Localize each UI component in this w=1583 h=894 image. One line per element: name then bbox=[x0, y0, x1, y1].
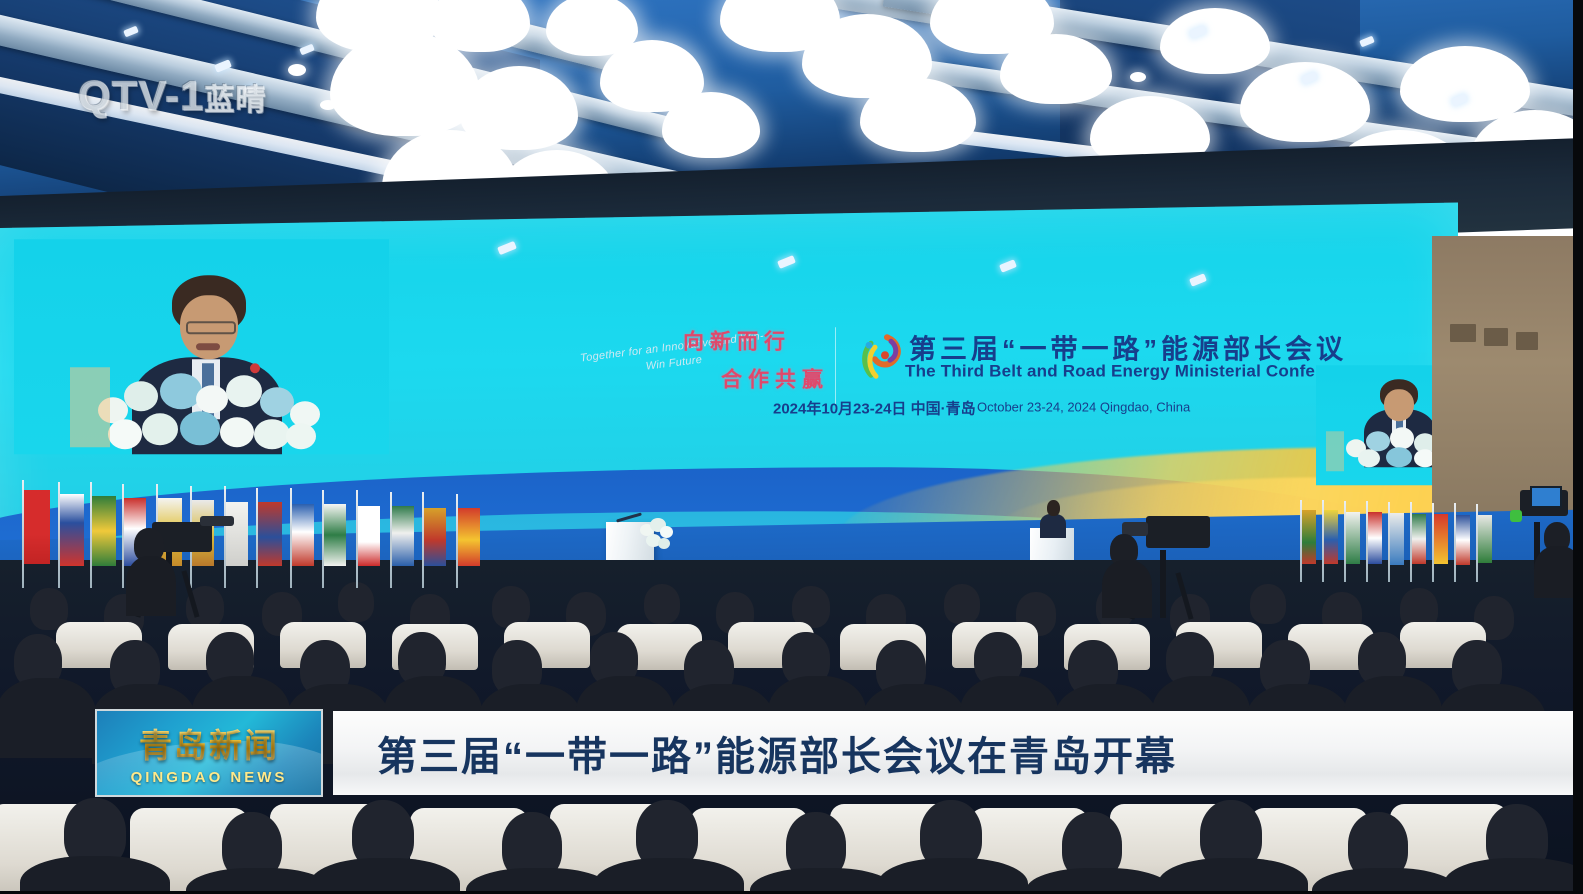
slogan-chinese-line2: 合作共赢 bbox=[721, 363, 829, 393]
channel-logo-bug: QTV-1蓝晴 bbox=[78, 72, 266, 120]
headline-text: 第三届“一带一路”能源部长会议在青岛开幕 bbox=[377, 724, 1177, 782]
lower-third: 青岛新闻 QINGDAO NEWS 第三届“一带一路”能源部长会议在青岛开幕 bbox=[95, 709, 1575, 797]
slogan-chinese-line1: 向新而行 bbox=[683, 325, 791, 355]
conference-emblem-icon bbox=[857, 331, 903, 385]
channel-logo-sub: 蓝晴 bbox=[204, 84, 266, 117]
program-logo-english: QINGDAO NEWS bbox=[97, 769, 321, 786]
podium-flowers bbox=[640, 518, 674, 554]
frame-edge-right bbox=[1573, 0, 1583, 894]
conference-date-chinese: 2024年10月23-24日 中国·青岛 bbox=[773, 397, 976, 418]
camera-rig-center bbox=[1108, 498, 1228, 622]
camera-rig-left bbox=[126, 500, 236, 620]
camera-rig-right bbox=[1504, 466, 1583, 596]
flags-row-right bbox=[1294, 498, 1504, 586]
broadcast-frame: Together for an Innovative and Win-Win F… bbox=[0, 0, 1583, 894]
headline-bar: 第三届“一带一路”能源部长会议在青岛开幕 bbox=[333, 711, 1575, 795]
program-logo: 青岛新闻 QINGDAO NEWS bbox=[95, 709, 323, 797]
program-logo-chinese: 青岛新闻 bbox=[97, 719, 321, 767]
channel-logo-main: QTV-1 bbox=[78, 72, 204, 119]
flags-row-left bbox=[0, 476, 500, 588]
conference-banner-graphic: Together for an Innovative and Win-Win F… bbox=[573, 323, 1243, 443]
conference-date-english: October 23-24, 2024 Qingdao, China bbox=[977, 399, 1190, 414]
conference-title-english: The Third Belt and Road Energy Ministeri… bbox=[905, 361, 1361, 381]
live-feed-left bbox=[14, 239, 389, 454]
stage-speaker-figure bbox=[1040, 500, 1066, 534]
